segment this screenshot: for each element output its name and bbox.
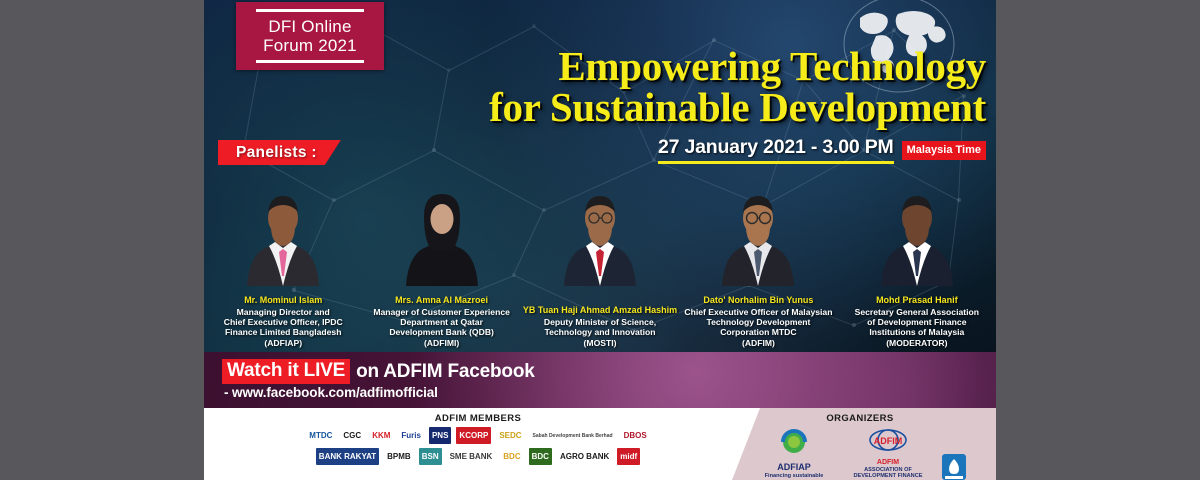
organizer-mark-icon: ADFIM xyxy=(868,428,908,459)
member-logo: Furis xyxy=(398,427,424,444)
organizer-mark-icon xyxy=(779,429,809,462)
organizer-logo: ADFIMADFIMASSOCIATION OF DEVELOPMENT FIN… xyxy=(847,428,929,480)
badge-text: DFI Online Forum 2021 xyxy=(263,17,357,55)
members-heading: ADFIM MEMBERS xyxy=(204,408,752,424)
panelist-photo xyxy=(554,182,646,286)
panelist-info: Dato' Norhalim Bin YunusChief Executive … xyxy=(681,295,835,348)
panelist-name: Mrs. Amna Al Mazroei xyxy=(364,295,518,306)
panelist-name: Dato' Norhalim Bin Yunus xyxy=(681,295,835,306)
panelist-info: Mrs. Amna Al MazroeiManager of Customer … xyxy=(364,295,518,348)
badge-rule-bottom xyxy=(256,60,364,63)
member-logo: KCORP xyxy=(456,427,491,444)
timezone-badge: Malaysia Time xyxy=(902,141,986,160)
letterbox-right xyxy=(996,0,1200,480)
panelist-card: Dato' Norhalim Bin YunusChief Executive … xyxy=(679,176,837,352)
member-logo: MTDC xyxy=(306,427,335,444)
footer-logos: ADFIM MEMBERS MTDCCGCKKMFurisPNSKCORPSED… xyxy=(204,408,996,480)
member-logo: SEDC xyxy=(496,427,524,444)
watch-live-band: Watch it LIVE on ADFIM Facebook - www.fa… xyxy=(204,352,996,408)
panelist-role: Chief Executive Officer of MalaysianTech… xyxy=(681,307,835,348)
member-logo: AGRO BANK xyxy=(557,448,612,465)
letterbox-left xyxy=(0,0,204,480)
member-logo: DBOS xyxy=(621,427,650,444)
organizer-caption: ASSOCIATION OF DEVELOPMENT FINANCE INSTI… xyxy=(847,467,929,480)
organizers-section: ORGANIZERS ADFIAPFinancing sustainable d… xyxy=(724,408,996,480)
panelist-photo xyxy=(871,182,963,286)
organizer-logo: ADFIAPFinancing sustainable development xyxy=(753,429,835,480)
organizer-mark-icon xyxy=(941,453,967,480)
panelist-name: Mr. Mominul Islam xyxy=(206,295,360,306)
member-logo: BDC xyxy=(529,448,552,465)
panelist-info: Mr. Mominul IslamManaging Director andCh… xyxy=(206,295,360,348)
watch-live-rest: on ADFIM Facebook xyxy=(356,361,535,383)
organizers-heading: ORGANIZERS xyxy=(724,408,996,424)
panelist-info: YB Tuan Haji Ahmad Amzad HashimDeputy Mi… xyxy=(523,305,677,348)
watch-live-highlight: Watch it LIVE xyxy=(222,359,350,384)
badge-rule-top xyxy=(256,9,364,12)
watch-live-headline: Watch it LIVE on ADFIM Facebook xyxy=(222,359,535,384)
member-logo: BDC xyxy=(500,448,523,465)
members-logo-row-1: MTDCCGCKKMFurisPNSKCORPSEDCSabah Develop… xyxy=(204,427,752,444)
forum-badge: DFI Online Forum 2021 xyxy=(236,2,384,70)
panelist-info: Mohd Prasad HanifSecretary General Assoc… xyxy=(840,295,994,348)
title-line-2: for Sustainable Development xyxy=(454,87,986,128)
panelist-photo xyxy=(712,182,804,286)
panelist-name: Mohd Prasad Hanif xyxy=(840,295,994,306)
panelist-photo xyxy=(396,182,488,286)
panelist-role: Managing Director andChief Executive Off… xyxy=(206,307,360,348)
panelist-card: Mr. Mominul IslamManaging Director andCh… xyxy=(204,176,362,352)
member-logo: SME BANK xyxy=(447,448,496,465)
member-logo: Sabah Development Bank Berhad xyxy=(530,427,616,444)
members-logo-row-2: BANK RAKYATBPMBBSNSME BANKBDCBDCAGRO BAN… xyxy=(204,448,752,465)
organizer-name: ADFIM xyxy=(877,459,899,466)
panelist-photo xyxy=(237,182,329,286)
event-date-text: 27 January 2021 - 3.00 PM xyxy=(658,136,894,164)
event-datetime: 27 January 2021 - 3.00 PM Malaysia Time xyxy=(554,136,986,164)
members-section: ADFIM MEMBERS MTDCCGCKKMFurisPNSKCORPSED… xyxy=(204,408,752,480)
organizer-name: ADFIAP xyxy=(777,462,811,472)
panelist-role: Deputy Minister of Science,Technology an… xyxy=(523,317,677,348)
organizer-caption: Financing sustainable development xyxy=(753,473,835,480)
member-logo: BPMB xyxy=(384,448,414,465)
panelist-card: Mohd Prasad HanifSecretary General Assoc… xyxy=(838,176,996,352)
panelist-role: Secretary General Associationof Developm… xyxy=(840,307,994,348)
member-logo: BANK RAKYAT xyxy=(316,448,379,465)
member-logo: KKM xyxy=(369,427,393,444)
panelist-card: Mrs. Amna Al MazroeiManager of Customer … xyxy=(362,176,520,352)
panelist-card: YB Tuan Haji Ahmad Amzad HashimDeputy Mi… xyxy=(521,176,679,352)
panelist-name: YB Tuan Haji Ahmad Amzad Hashim xyxy=(523,305,677,316)
member-logo: PNS xyxy=(429,427,451,444)
organizer-logo xyxy=(941,453,967,480)
badge-line-1: DFI Online xyxy=(263,17,357,36)
event-poster: DFI Online Forum 2021 Empowering Technol… xyxy=(204,0,996,480)
member-logo: BSN xyxy=(419,448,442,465)
screenshot-stage: DFI Online Forum 2021 Empowering Technol… xyxy=(0,0,1200,480)
panelist-list: Mr. Mominul IslamManaging Director andCh… xyxy=(204,176,996,352)
title-line-1: Empowering Technology xyxy=(454,46,986,87)
badge-line-2: Forum 2021 xyxy=(263,36,357,55)
poster-title: Empowering Technology for Sustainable De… xyxy=(454,46,986,127)
panelist-role: Manager of Customer ExperienceDepartment… xyxy=(364,307,518,348)
panelists-ribbon: Panelists : xyxy=(218,140,341,165)
member-logo: CGC xyxy=(340,427,364,444)
facebook-url[interactable]: - www.facebook.com/adfimofficial xyxy=(224,385,438,400)
svg-text:ADFIM: ADFIM xyxy=(874,436,903,446)
hero-section: DFI Online Forum 2021 Empowering Technol… xyxy=(204,0,996,352)
organizers-logo-row: ADFIAPFinancing sustainable developmentA… xyxy=(724,428,996,480)
member-logo: midf xyxy=(617,448,640,465)
panelists-label: Panelists : xyxy=(236,144,317,162)
